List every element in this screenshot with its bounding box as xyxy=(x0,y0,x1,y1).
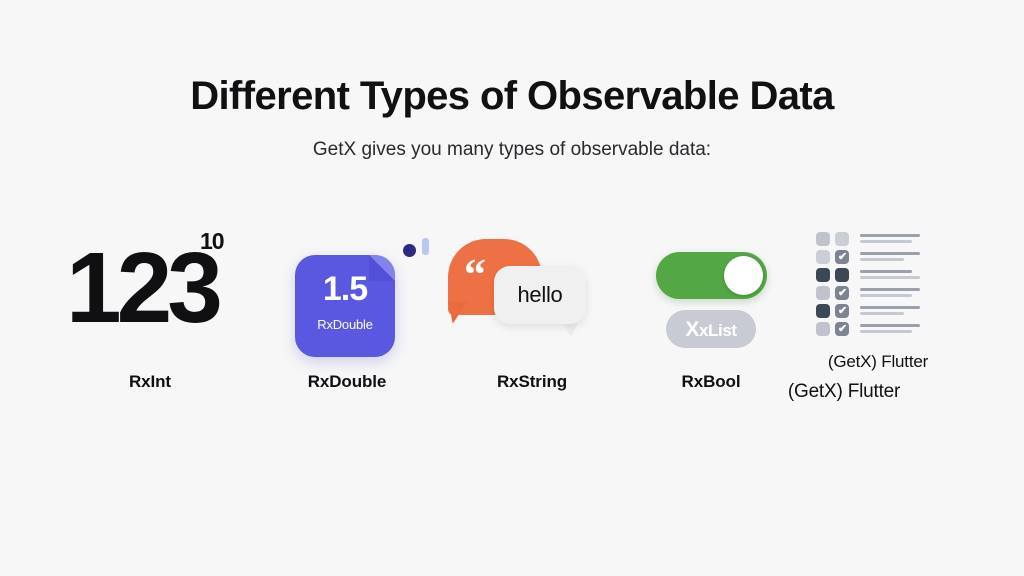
checkbox-icon[interactable] xyxy=(835,232,849,246)
rxint-icon: 123 10 xyxy=(50,222,250,372)
checklist-text-line xyxy=(860,276,920,279)
checklist-row[interactable] xyxy=(816,230,940,247)
dot-icon xyxy=(403,244,416,257)
checklist-text-line xyxy=(860,288,920,291)
checklist-row[interactable]: ✔ xyxy=(816,284,940,301)
checklist-text-lines xyxy=(860,287,920,299)
rxlist-label-line-1: (GetX) Flutter xyxy=(778,352,978,372)
checklist-square-icon[interactable] xyxy=(816,232,830,246)
observable-type-rxlist[interactable]: ✔✔✔✔ (GetX) Flutter (GetX) Flutter xyxy=(778,222,978,422)
checkbox-checked-icon[interactable]: ✔ xyxy=(835,322,849,336)
checklist-square-icon[interactable] xyxy=(816,322,830,336)
check-icon: ✔ xyxy=(838,287,847,299)
xxlist-pill: XxList xyxy=(666,310,756,348)
checklist-text-lines xyxy=(860,323,920,335)
checklist-text-line xyxy=(860,330,912,333)
checklist-text-line xyxy=(860,312,904,315)
rxstring-label: RxString xyxy=(432,372,632,392)
checklist-row[interactable]: ✔ xyxy=(816,320,940,337)
xxlist-pill-lead: X xyxy=(685,318,699,341)
rxlist-icon: ✔✔✔✔ xyxy=(778,222,978,372)
page-title: Different Types of Observable Data xyxy=(0,74,1024,118)
rxdouble-tile: 1.5 RxDouble xyxy=(295,255,395,357)
checklist-text-lines xyxy=(860,305,920,317)
rxint-digits: 123 xyxy=(66,238,218,338)
check-icon: ✔ xyxy=(838,251,847,263)
checklist-row[interactable]: ✔ xyxy=(816,302,940,319)
checklist-row[interactable] xyxy=(816,266,940,283)
xxlist-pill-label: XxList xyxy=(666,319,756,340)
checkbox-checked-icon[interactable]: ✔ xyxy=(835,250,849,264)
check-icon: ✔ xyxy=(838,305,847,317)
header: Different Types of Observable Data GetX … xyxy=(0,0,1024,161)
observable-types-row: 123 10 RxInt 1.5 RxDouble RxDouble “ xyxy=(0,222,1024,422)
rxstring-message: hello xyxy=(494,282,586,308)
checklist-square-icon[interactable] xyxy=(816,268,830,282)
check-icon: ✔ xyxy=(838,323,847,335)
checklist-text-line xyxy=(860,306,920,309)
checklist-text-line xyxy=(860,294,912,297)
rxlist-label-line-2: (GetX) Flutter xyxy=(744,381,944,403)
checklist-text-line xyxy=(860,324,920,327)
checklist-text-line xyxy=(860,252,920,255)
checkbox-checked-icon[interactable]: ✔ xyxy=(835,304,849,318)
toggle-switch[interactable] xyxy=(656,252,767,299)
toggle-knob-icon xyxy=(724,256,763,295)
integer-number-icon: 123 10 xyxy=(50,222,250,372)
rxint-label: RxInt xyxy=(50,372,250,392)
checklist-square-icon[interactable] xyxy=(816,286,830,300)
checklist-text-line xyxy=(860,234,920,237)
observable-type-rxdouble[interactable]: 1.5 RxDouble RxDouble xyxy=(247,222,447,422)
checkbox-checked-icon[interactable]: ✔ xyxy=(835,286,849,300)
checklist-square-icon[interactable] xyxy=(816,250,830,264)
rxint-exponent: 10 xyxy=(200,230,224,253)
rxstring-icon: “ hello xyxy=(432,222,632,372)
checklist-text-lines xyxy=(860,233,920,245)
observable-type-rxstring[interactable]: “ hello RxString xyxy=(432,222,632,422)
checklist-text-lines xyxy=(860,251,920,263)
rxdouble-label: RxDouble xyxy=(247,372,447,392)
rxdouble-icon: 1.5 RxDouble xyxy=(247,222,447,372)
rxdouble-value: 1.5 xyxy=(295,272,395,306)
checklist-icon: ✔✔✔✔ xyxy=(816,230,940,340)
checklist-text-line xyxy=(860,240,912,243)
checklist-text-lines xyxy=(860,269,920,281)
checklist-text-line xyxy=(860,258,904,261)
xxlist-pill-rest: xList xyxy=(699,321,737,340)
rxdouble-caption: RxDouble xyxy=(295,317,395,332)
checkbox-icon[interactable] xyxy=(835,268,849,282)
checklist-square-icon[interactable] xyxy=(816,304,830,318)
quote-mark-icon: “ xyxy=(464,253,485,297)
checklist-text-line xyxy=(860,270,912,273)
page-subtitle: GetX gives you many types of observable … xyxy=(0,118,1024,161)
observable-type-rxint[interactable]: 123 10 RxInt xyxy=(50,222,250,422)
bar-icon xyxy=(422,238,429,255)
checklist-row[interactable]: ✔ xyxy=(816,248,940,265)
